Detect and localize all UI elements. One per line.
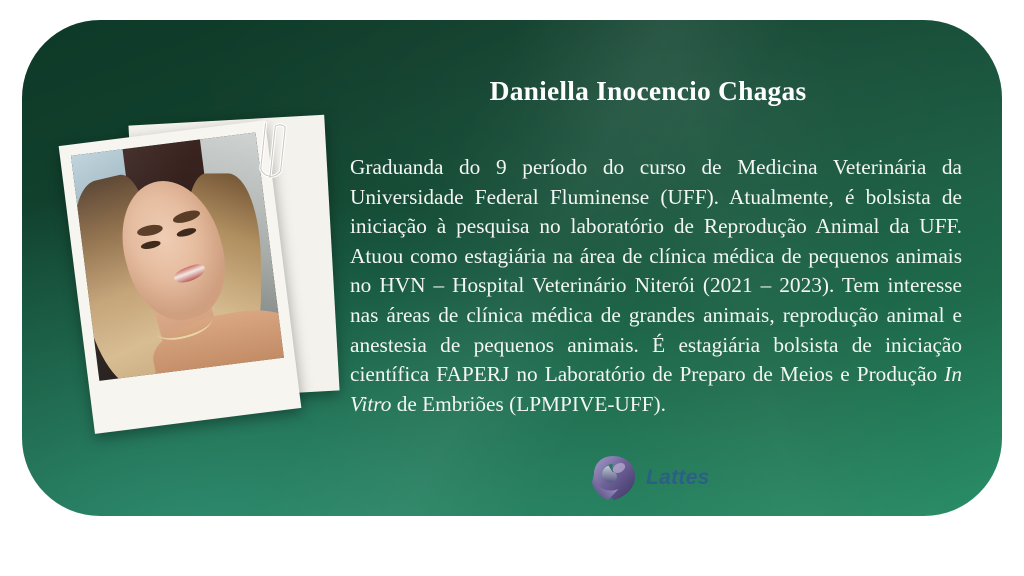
photo-stack: [58, 108, 358, 438]
lattes-logo[interactable]: Lattes: [588, 452, 718, 504]
bio-text-part2: de Embriões (LPMPIVE-UFF).: [391, 392, 665, 416]
bio-text-part1: Graduanda do 9 período do curso de Medic…: [350, 155, 962, 386]
lattes-label: Lattes: [646, 466, 710, 490]
page-title: Daniella Inocencio Chagas: [328, 75, 968, 107]
lattes-swirl-icon: [588, 453, 638, 503]
portrait-illustration: [71, 132, 284, 381]
portrait-photo: [71, 132, 284, 381]
slide-canvas: Daniella Inocencio Chagas Graduanda do 9…: [0, 0, 1024, 576]
bio-paragraph: Graduanda do 9 período do curso de Medic…: [350, 153, 962, 419]
